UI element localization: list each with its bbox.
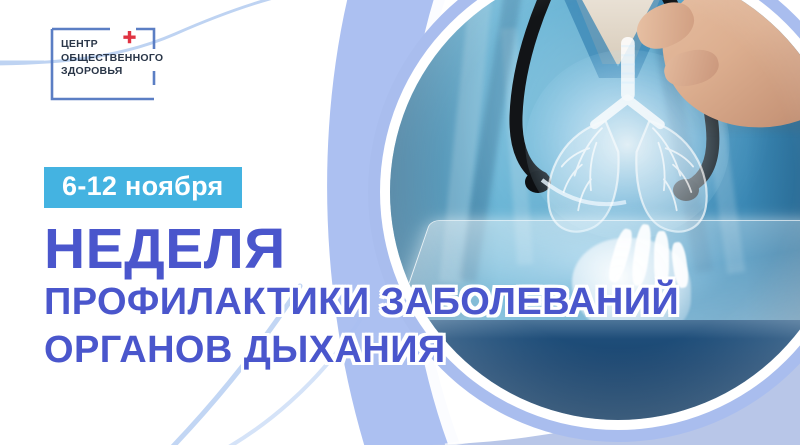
headline-line-3: ОРГАНОВ ДЫХАНИЯ (44, 330, 764, 371)
headline-block: НЕДЕЛЯ ПРОФИЛАКТИКИ ЗАБОЛЕВАНИЙ ОРГАНОВ … (44, 222, 764, 371)
headline-line-1: НЕДЕЛЯ (44, 222, 764, 278)
logo-line-3: ЗДОРОВЬЯ (61, 65, 163, 79)
logo-text: ЦЕНТР ОБЩЕСТВЕННОГО ЗДОРОВЬЯ (61, 38, 163, 79)
logo[interactable]: ЦЕНТР ОБЩЕСТВЕННОГО ЗДОРОВЬЯ (50, 27, 186, 101)
photo-stage (368, 0, 800, 442)
date-badge: 6-12 ноября (44, 167, 242, 208)
headline-line-2: ПРОФИЛАКТИКИ ЗАБОЛЕВАНИЙ (44, 282, 764, 323)
logo-line-1: ЦЕНТР (61, 38, 163, 52)
logo-line-2: ОБЩЕСТВЕННОГО (61, 52, 163, 66)
poster-canvas: ЦЕНТР ОБЩЕСТВЕННОГО ЗДОРОВЬЯ 6-12 ноября… (0, 0, 800, 445)
